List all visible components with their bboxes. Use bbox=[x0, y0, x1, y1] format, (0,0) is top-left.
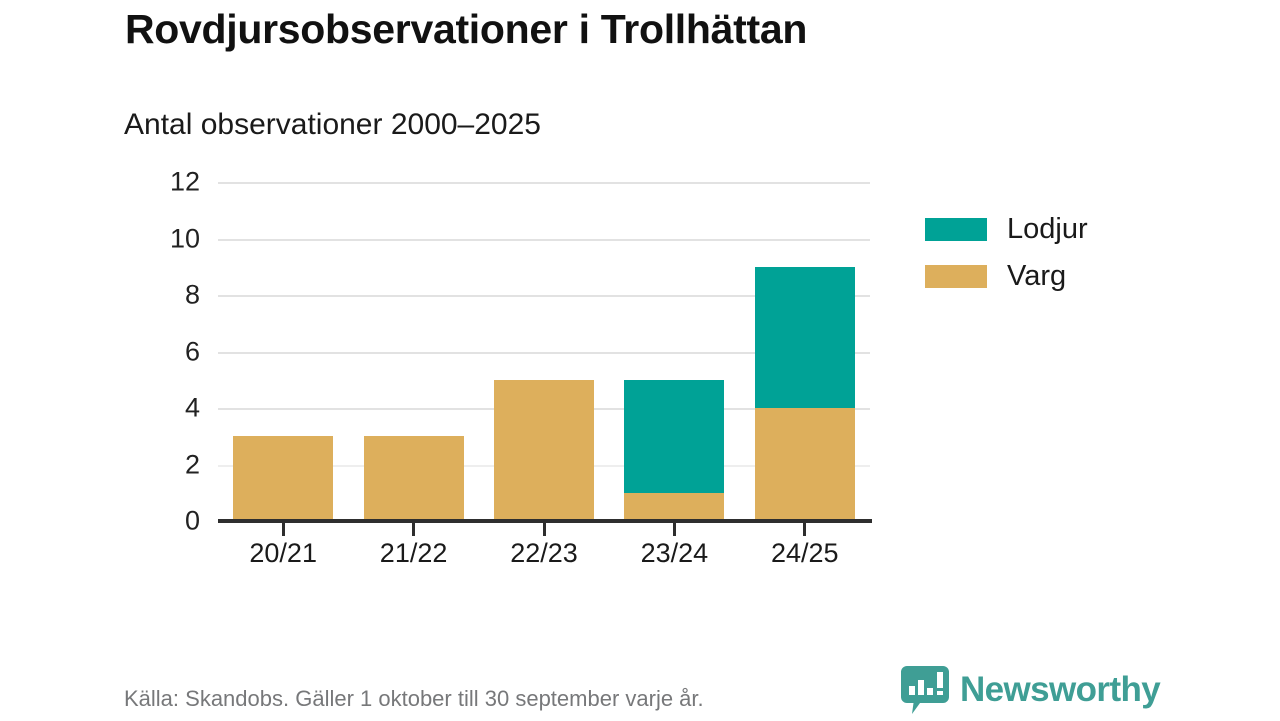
newsworthy-logo: Newsworthy bbox=[900, 664, 1160, 716]
chart-subtitle: Antal observationer 2000–2025 bbox=[124, 108, 541, 142]
y-axis-labels: 024681012 bbox=[130, 182, 200, 521]
legend-swatch-varg bbox=[925, 265, 987, 288]
y-tick-label-10: 10 bbox=[130, 223, 200, 254]
newsworthy-wordmark: Newsworthy bbox=[960, 670, 1160, 710]
x-tick-mark bbox=[803, 523, 806, 536]
bar-segment-varg[interactable] bbox=[755, 408, 855, 521]
x-axis-tick-marks bbox=[218, 523, 870, 539]
bar-segment-varg[interactable] bbox=[364, 436, 464, 521]
bar-segment-varg[interactable] bbox=[624, 493, 724, 521]
x-tick-label-20-21: 20/21 bbox=[249, 538, 317, 569]
x-tick-mark bbox=[282, 523, 285, 536]
x-tick-mark bbox=[543, 523, 546, 536]
bar-segment-varg[interactable] bbox=[494, 380, 594, 521]
bar-group[interactable] bbox=[624, 182, 724, 521]
x-tick-mark bbox=[673, 523, 676, 536]
bar-group[interactable] bbox=[494, 182, 594, 521]
bar-group[interactable] bbox=[233, 182, 333, 521]
bar-group[interactable] bbox=[755, 182, 855, 521]
y-tick-label-12: 12 bbox=[130, 167, 200, 198]
source-note: Källa: Skandobs. Gäller 1 oktober till 3… bbox=[124, 686, 704, 712]
x-tick-label-23-24: 23/24 bbox=[641, 538, 709, 569]
x-axis-labels: 20/2121/2222/2323/2424/25 bbox=[218, 538, 870, 578]
y-tick-label-2: 2 bbox=[130, 449, 200, 480]
legend-item-lodjur[interactable]: Lodjur bbox=[925, 206, 1088, 253]
legend-item-varg[interactable]: Varg bbox=[925, 253, 1088, 300]
y-tick-label-4: 4 bbox=[130, 393, 200, 424]
legend-label: Varg bbox=[1007, 260, 1066, 293]
x-tick-mark bbox=[412, 523, 415, 536]
x-tick-label-24-25: 24/25 bbox=[771, 538, 839, 569]
page-title: Rovdjursobservationer i Trollhättan bbox=[125, 6, 807, 53]
bar-chart-speech-bubble-icon bbox=[900, 664, 950, 716]
bar-series-container bbox=[218, 182, 870, 521]
bar-segment-varg[interactable] bbox=[233, 436, 333, 521]
legend-swatch-lodjur bbox=[925, 218, 987, 241]
x-tick-label-21-22: 21/22 bbox=[380, 538, 448, 569]
y-tick-label-0: 0 bbox=[130, 506, 200, 537]
y-tick-label-6: 6 bbox=[130, 336, 200, 367]
bar-group[interactable] bbox=[364, 182, 464, 521]
bar-segment-lodjur[interactable] bbox=[755, 267, 855, 408]
legend-label: Lodjur bbox=[1007, 213, 1088, 246]
bar-segment-lodjur[interactable] bbox=[624, 380, 724, 493]
y-tick-label-8: 8 bbox=[130, 280, 200, 311]
chart-legend: LodjurVarg bbox=[925, 206, 1088, 300]
x-tick-label-22-23: 22/23 bbox=[510, 538, 578, 569]
